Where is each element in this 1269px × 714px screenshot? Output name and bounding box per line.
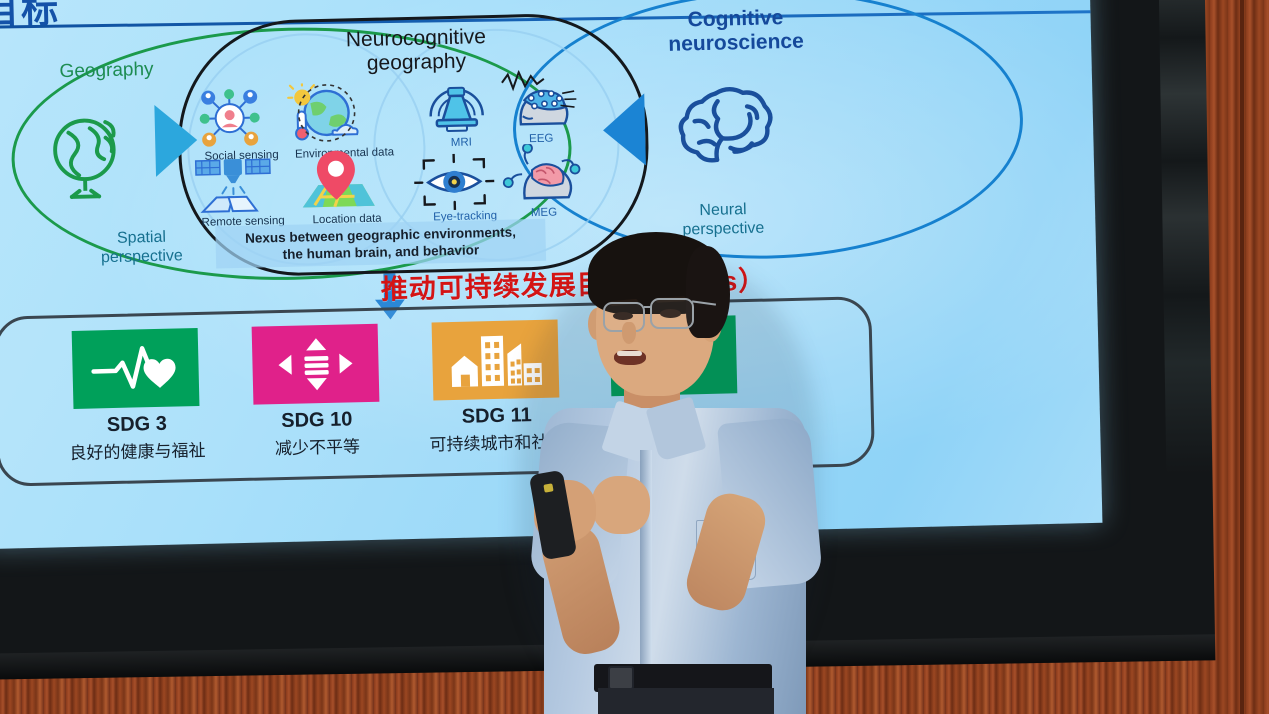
sdg-tile-3 xyxy=(72,328,200,409)
social-network-icon xyxy=(194,86,265,150)
cognitive-neuroscience-label: Cognitiveneuroscience xyxy=(620,5,851,58)
glasses-lens-right xyxy=(650,298,694,329)
wood-seam xyxy=(1240,0,1244,714)
sdg-item-10: SDG 10 减少不平等 xyxy=(220,323,413,460)
geography-label: Geography xyxy=(59,59,154,83)
method-remote-sensing: Remote sensing xyxy=(192,152,294,229)
spatial-perspective-label: Spatialperspective xyxy=(76,228,207,269)
mri-scanner-icon xyxy=(420,75,493,137)
caption-meg: MEG xyxy=(503,206,585,220)
method-mri: MRI xyxy=(420,75,502,150)
method-eye-tracking: Eye-tracking xyxy=(414,152,516,223)
satellite-icon xyxy=(192,152,275,216)
page-title: 目标 xyxy=(0,0,61,35)
caption-mri: MRI xyxy=(421,136,501,150)
globe-icon xyxy=(45,114,125,206)
environment-globe-icon xyxy=(284,82,363,148)
panel-sheen xyxy=(1159,0,1214,531)
method-eeg: EEG xyxy=(500,69,582,146)
sdg-name-3: 良好的健康与福祉 xyxy=(42,435,233,464)
brain-icon xyxy=(672,80,782,169)
map-pin-icon xyxy=(293,146,379,214)
presenter xyxy=(500,226,830,714)
sdg-name-10: 减少不平等 xyxy=(222,431,413,460)
method-location-data: Location data xyxy=(293,145,399,226)
eeg-head-icon xyxy=(500,69,579,133)
presenter-nose xyxy=(622,322,636,344)
presenter-remote-led xyxy=(543,483,553,492)
meg-head-icon xyxy=(501,143,582,207)
sdg-code-10: SDG 10 xyxy=(222,407,412,434)
presenter-belt-buckle xyxy=(608,666,634,690)
presenter-hand-right xyxy=(592,476,650,534)
sdg-code-3: SDG 3 xyxy=(42,411,232,438)
arrow-right-icon xyxy=(602,93,646,166)
equal-sign-arrows-icon xyxy=(276,335,355,393)
presenter-trousers xyxy=(598,688,774,714)
presentation-scene: 目标 Geography Spatialperspective Cognitiv… xyxy=(0,0,1269,714)
sdg-item-3: SDG 3 良好的健康与福祉 xyxy=(40,327,233,464)
eye-tracking-icon xyxy=(414,153,495,211)
presenter-teeth xyxy=(617,351,642,356)
glasses-bridge xyxy=(644,306,652,308)
heartbeat-icon xyxy=(89,341,182,395)
sdg-tile-10 xyxy=(252,324,380,405)
nexus-banner: Nexus between geographic environments,th… xyxy=(215,219,546,269)
method-meg: MEG xyxy=(501,143,585,220)
